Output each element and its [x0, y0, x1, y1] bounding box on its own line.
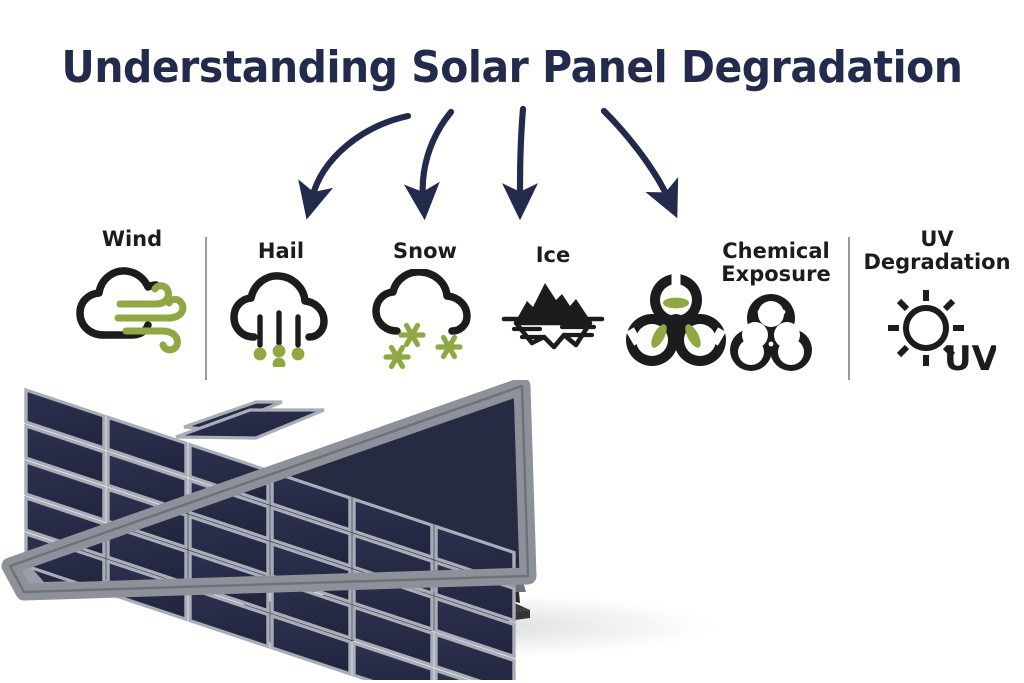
hazard-label-uv-line1: UV	[862, 228, 1012, 251]
solar-panel-illustration	[0, 380, 1024, 680]
arrow-to-snow	[423, 112, 451, 198]
hazard-item-uv[interactable]: UV Degradation UV	[862, 228, 1012, 376]
hazard-label-wind: Wind	[62, 228, 202, 251]
arrow-to-hail	[312, 116, 408, 198]
hazard-item-hail[interactable]: Hail	[216, 240, 346, 367]
biohazard-secondary-icon	[730, 292, 812, 377]
hail-cloud-icon	[216, 269, 346, 367]
uv-badge-text: UV	[944, 339, 996, 376]
hazard-label-hail: Hail	[216, 240, 346, 263]
hazard-item-ice[interactable]: Ice	[495, 244, 611, 367]
hazard-icon-row: Wind Hail	[0, 228, 1024, 388]
hazard-label-chemical-line1: Chemical	[708, 240, 844, 263]
divider-before-uv	[848, 237, 850, 380]
hazard-label-chemical-line2: Exposure	[708, 263, 844, 286]
hazard-item-wind[interactable]: Wind	[62, 228, 202, 357]
hazard-item-snow[interactable]: Snow	[358, 240, 492, 369]
hazard-label-uv-line2: Degradation	[862, 251, 1012, 274]
panel-body	[10, 386, 536, 680]
hazard-label-ice: Ice	[495, 244, 611, 267]
arrow-to-chemical	[604, 111, 668, 198]
biohazard-icon	[626, 270, 726, 371]
wind-cloud-icon	[62, 257, 202, 357]
arrow-to-ice	[520, 109, 523, 198]
sun-uv-icon: UV	[862, 284, 1012, 376]
infographic-canvas: Understanding Solar Panel Degradation Wi…	[0, 0, 1024, 683]
divider-after-wind	[205, 237, 207, 380]
iceberg-icon	[495, 273, 611, 367]
snow-cloud-icon	[358, 269, 492, 369]
hazard-label-snow: Snow	[358, 240, 492, 263]
